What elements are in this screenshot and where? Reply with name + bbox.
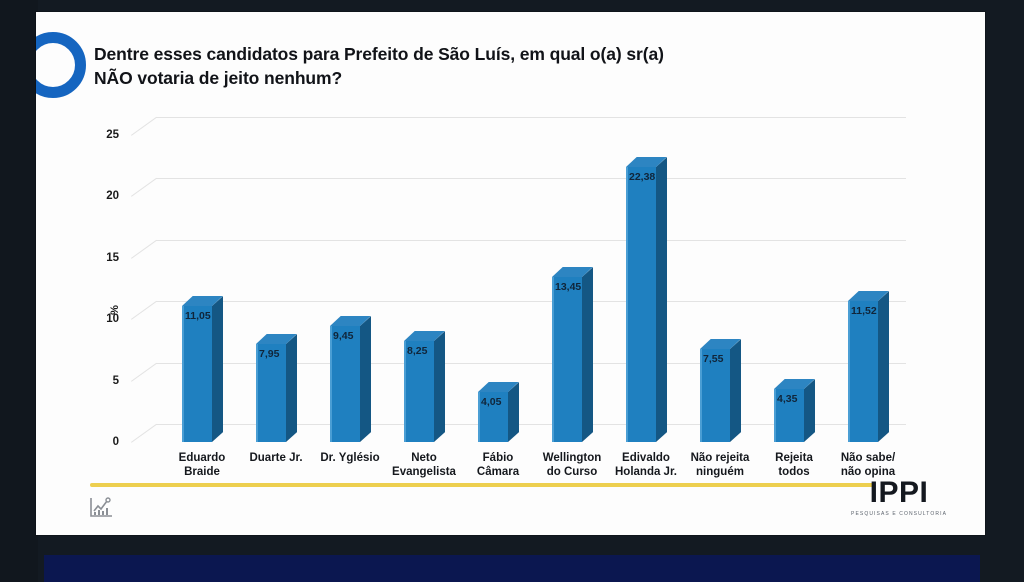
bar-side-face xyxy=(360,316,371,442)
bar-front-face xyxy=(330,326,360,442)
bar xyxy=(552,277,582,442)
logo-tagline: PESQUISAS E CONSULTORIA xyxy=(851,511,947,517)
gridline xyxy=(156,240,906,241)
bar-value-label: 4,05 xyxy=(481,396,501,408)
bar xyxy=(848,301,878,442)
bar-value-label: 11,05 xyxy=(185,310,211,322)
bar-front-face xyxy=(626,167,656,442)
bar-side-face xyxy=(804,379,815,442)
gridline-depth-segment xyxy=(131,301,157,320)
bar xyxy=(182,306,212,442)
bar-side-face xyxy=(582,267,593,442)
slide-title-line-1: Dentre esses candidatos para Prefeito de… xyxy=(94,42,884,66)
logo-wordmark: IPPI xyxy=(851,478,947,508)
bar-side-face xyxy=(878,291,889,442)
footer-accent-rule xyxy=(90,483,874,487)
bar-chart-trend-icon xyxy=(88,496,114,520)
y-axis-tick-label: 25 xyxy=(79,129,119,141)
bar-value-label: 11,52 xyxy=(851,305,877,317)
gridline-depth-segment xyxy=(131,117,157,136)
bar-side-face xyxy=(434,331,445,442)
bar-value-label: 13,45 xyxy=(555,281,581,293)
bar-side-face xyxy=(730,339,741,442)
bar xyxy=(330,326,360,442)
gridline-depth-segment xyxy=(131,240,157,259)
gridline xyxy=(156,178,906,179)
ippi-logo: IPPI PESQUISAS E CONSULTORIA xyxy=(851,478,947,517)
presentation-slide: Dentre esses candidatos para Prefeito de… xyxy=(36,12,985,535)
y-axis-tick-label: 15 xyxy=(79,252,119,264)
slide-title: Dentre esses candidatos para Prefeito de… xyxy=(94,42,884,90)
y-axis-title: % xyxy=(109,305,121,315)
blue-ring-decoration-icon xyxy=(36,32,86,98)
bar-front-face xyxy=(848,301,878,442)
bar-front-face xyxy=(552,277,582,442)
gridline xyxy=(156,117,906,118)
slide-title-line-2: NÃO votaria de jeito nenhum? xyxy=(94,66,884,90)
bar-side-face xyxy=(508,382,519,442)
gridline xyxy=(156,301,906,302)
gridline-depth-segment xyxy=(131,363,157,382)
x-axis-tick-label-line: Não sabe/ xyxy=(816,452,920,466)
bar xyxy=(626,167,656,442)
bar-value-label: 7,55 xyxy=(703,353,723,365)
bar-value-label: 7,95 xyxy=(259,348,279,360)
bar-front-face xyxy=(182,306,212,442)
y-axis-tick-label: 0 xyxy=(79,436,119,448)
y-axis-tick-label: 5 xyxy=(79,375,119,387)
bar-side-face xyxy=(656,157,667,442)
gridline-depth-segment xyxy=(131,424,157,443)
y-axis-tick-label: 10 xyxy=(79,313,119,325)
bar-value-label: 4,35 xyxy=(777,393,797,405)
left-dark-edge xyxy=(0,0,38,582)
bar-chart: 0510152025 % 11,057,959,458,254,0513,452… xyxy=(36,112,985,482)
gridline-depth-segment xyxy=(131,178,157,197)
bar-side-face xyxy=(286,334,297,442)
bottom-navy-bar xyxy=(44,555,980,582)
bar-value-label: 9,45 xyxy=(333,330,353,342)
bar-value-label: 22,38 xyxy=(629,171,655,183)
x-axis-tick-label-line: Braide xyxy=(150,466,254,480)
bar-value-label: 8,25 xyxy=(407,345,427,357)
bar-side-face xyxy=(212,296,223,442)
y-axis-tick-label: 20 xyxy=(79,190,119,202)
